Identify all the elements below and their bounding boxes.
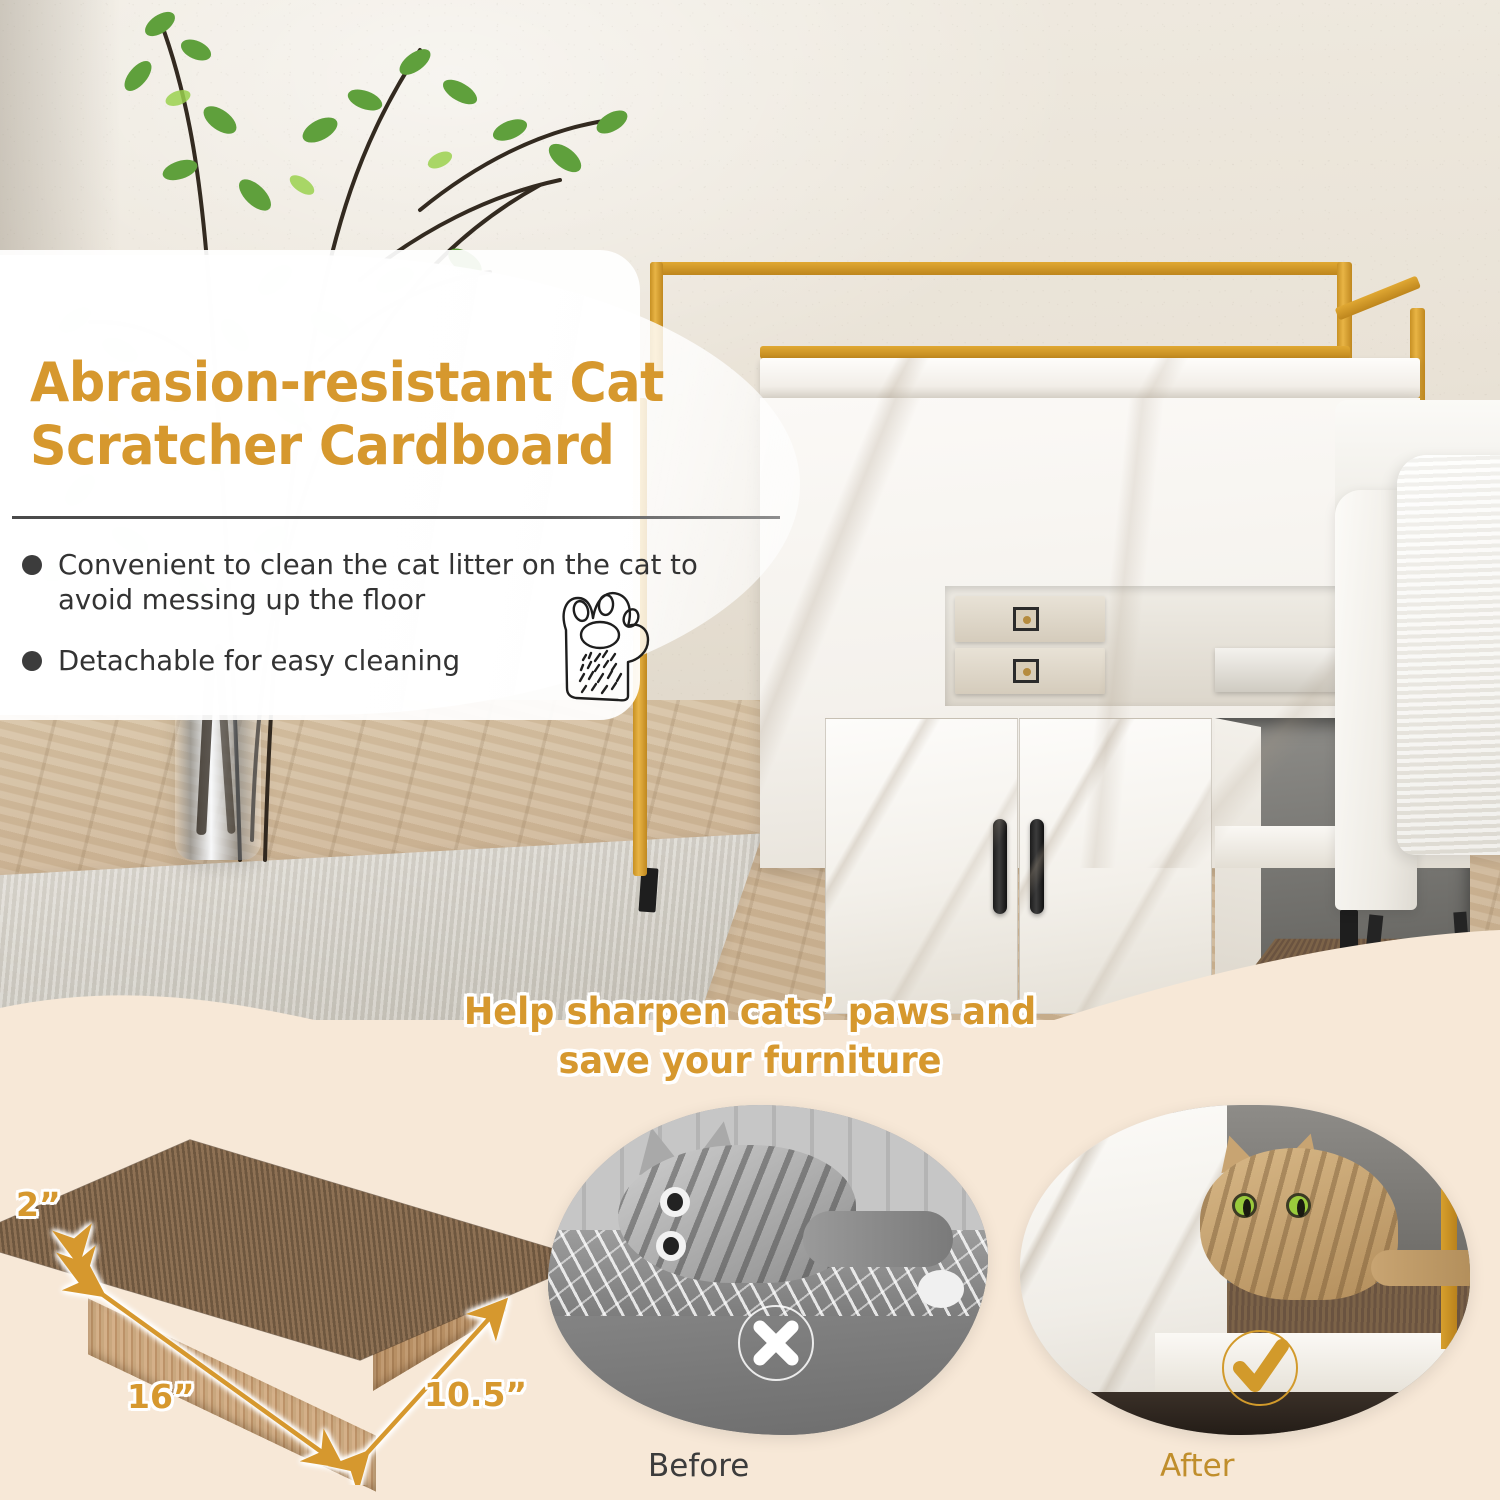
before-cat-body xyxy=(803,1211,953,1267)
before-cat-eye-right xyxy=(656,1231,686,1261)
bullet-dot-icon xyxy=(22,555,42,575)
bullet-dot-icon xyxy=(22,651,42,671)
cat-paw-sketch-icon xyxy=(548,578,660,703)
headline-divider xyxy=(12,516,780,519)
bullet-text: Detachable for easy cleaning xyxy=(58,644,460,679)
cat-litter-cabinet: some are sicker than others xyxy=(640,250,1440,950)
box-knob-icon xyxy=(1013,607,1039,631)
subheading-line-1: Help sharpen cats’ paws and xyxy=(38,988,1463,1037)
badge-ring xyxy=(738,1305,814,1381)
dimension-height-label: 2” xyxy=(16,1185,61,1224)
dimension-arrow-length xyxy=(92,1287,330,1458)
cabinet-body xyxy=(760,398,1420,868)
storage-box-lower xyxy=(955,648,1105,694)
after-cat-eye-left xyxy=(1232,1193,1257,1218)
after-cat-tail xyxy=(1371,1250,1470,1286)
subheading-line-2: save your furniture xyxy=(38,1037,1463,1086)
dimension-width-label: 10.5” xyxy=(424,1375,527,1414)
room-photo: some are sicker than others xyxy=(0,0,1500,1020)
dimension-arrow-height xyxy=(76,1249,80,1271)
sofa xyxy=(1335,400,1500,960)
after-cat xyxy=(1200,1148,1398,1300)
gold-rail-top xyxy=(650,262,1350,275)
after-label: After xyxy=(1160,1448,1234,1484)
cabinet-top-surface xyxy=(760,358,1420,398)
dimension-length-label: 16” xyxy=(127,1377,195,1416)
before-cat-eye-left xyxy=(660,1187,690,1217)
headline-line-2: Scratcher Cardboard xyxy=(30,415,707,478)
headline-line-1: Abrasion-resistant Cat xyxy=(30,352,707,415)
subheading-block: Help sharpen cats’ paws and save your fu… xyxy=(0,988,1500,1086)
storage-box-upper xyxy=(955,596,1105,642)
box-knob-icon xyxy=(1013,659,1039,683)
before-label: Before xyxy=(648,1448,749,1484)
before-cat-paw xyxy=(918,1270,964,1308)
check-badge xyxy=(1222,1330,1298,1406)
door-handle-icon[interactable] xyxy=(1030,819,1044,914)
headline-block: Abrasion-resistant Cat Scratcher Cardboa… xyxy=(30,352,750,477)
badge-ring xyxy=(1222,1330,1298,1406)
product-infographic: some are sicker than others xyxy=(0,0,1500,1500)
sofa-cushion xyxy=(1397,455,1500,855)
after-cat-eye-right xyxy=(1286,1193,1311,1218)
cardboard-scratcher-product: 2” 16” 10.5” xyxy=(40,1115,550,1485)
door-handle-icon[interactable] xyxy=(993,819,1007,914)
after-cabinet-front xyxy=(1155,1333,1470,1399)
before-photo xyxy=(548,1105,988,1435)
cross-badge xyxy=(738,1305,814,1381)
